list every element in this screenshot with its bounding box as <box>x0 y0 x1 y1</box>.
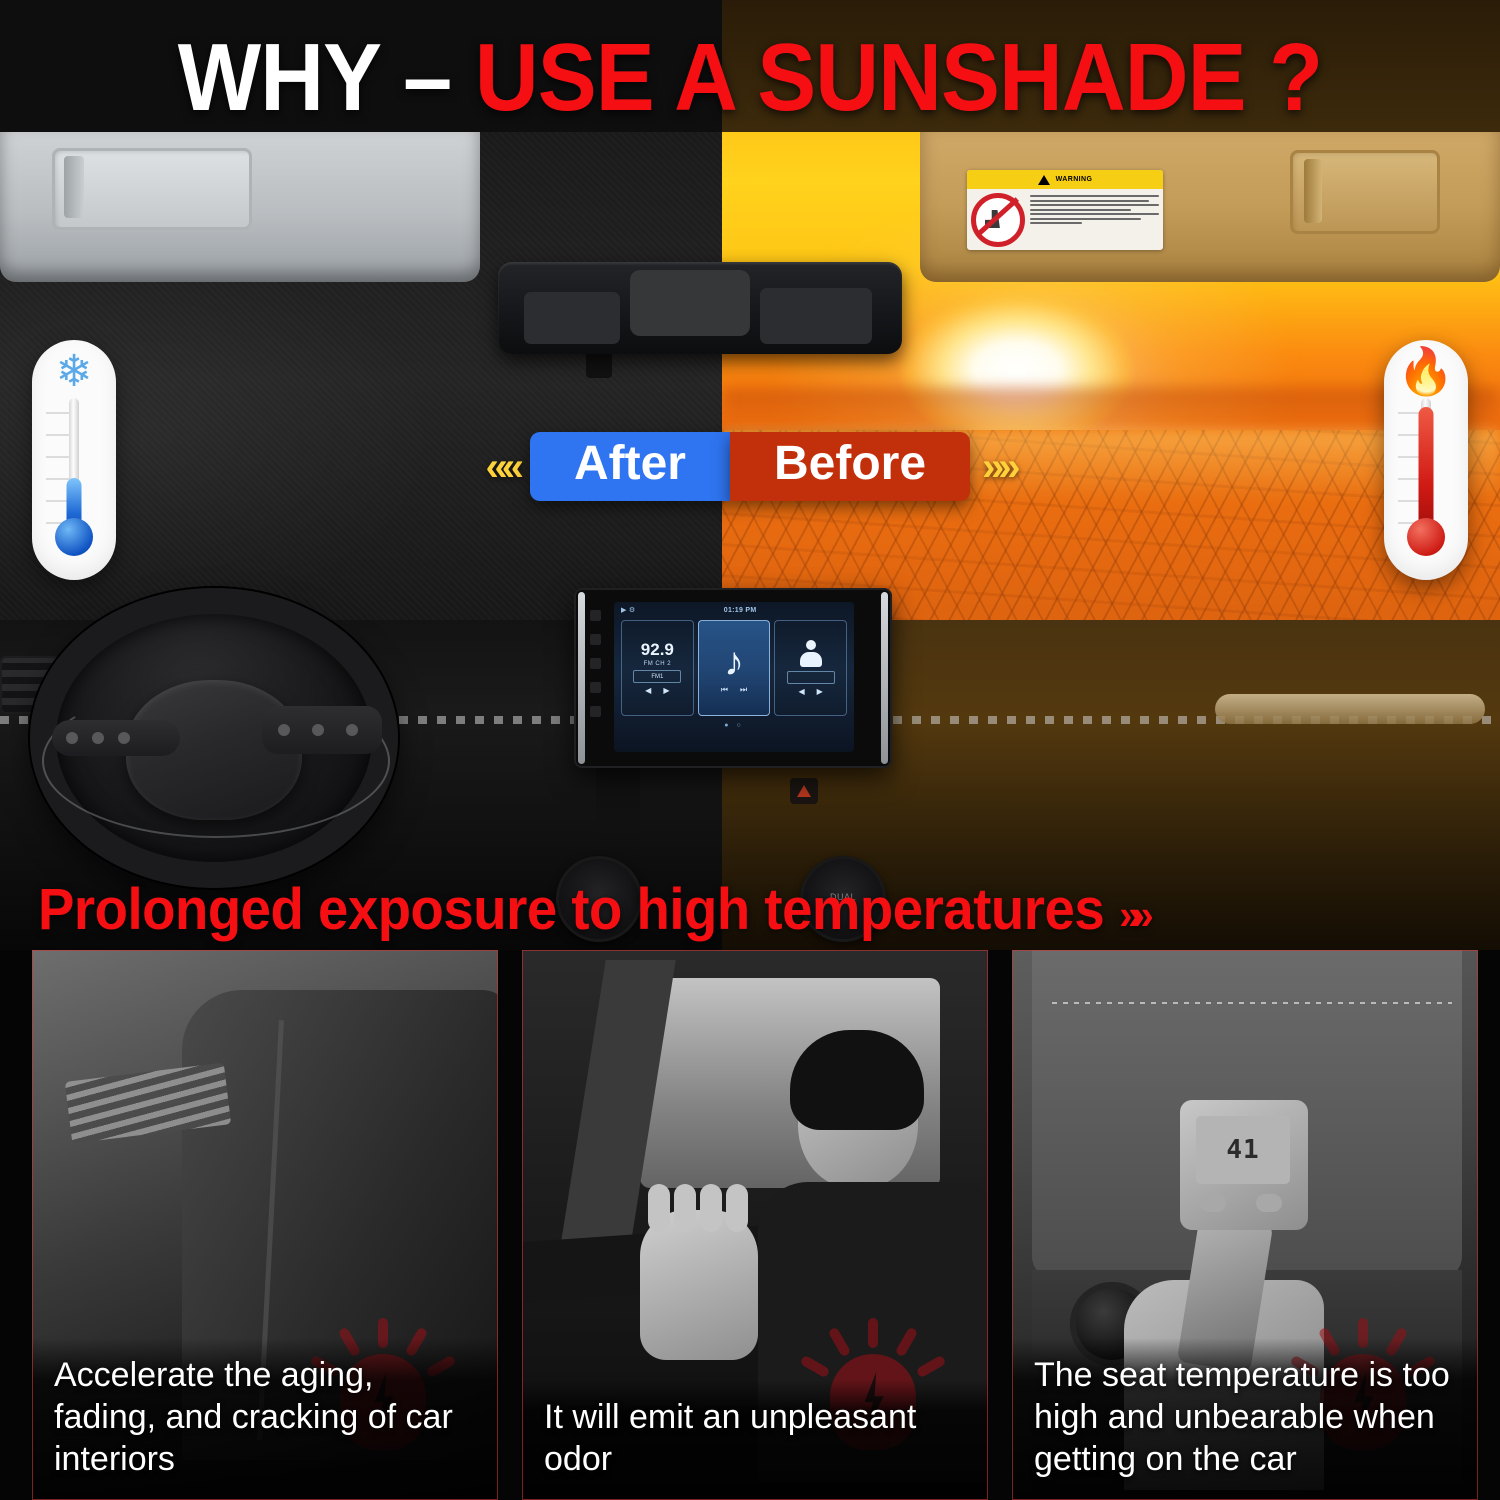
sun-visor-left <box>0 132 480 282</box>
profile-widget[interactable]: ◀ ▶ <box>774 620 847 716</box>
page-title: WHY – USE A SUNSHADE ? <box>60 30 1440 126</box>
hazard-light-button[interactable] <box>790 778 818 804</box>
warning-label-text: WARNING <box>1056 176 1093 183</box>
profile-chip[interactable] <box>787 671 835 684</box>
headline-white-part: WHY <box>178 24 403 131</box>
panel-caption: It will emit an unpleasant odor <box>522 1380 988 1500</box>
head-unit-key-menu <box>590 634 601 645</box>
panel-caption: Accelerate the aging, fading, and cracki… <box>32 1338 498 1500</box>
chevron-right-icon: »» <box>982 447 1015 487</box>
screen-clock: 01:19 PM <box>724 607 757 614</box>
mirror-reflection-headrest <box>630 270 750 336</box>
after-badge[interactable]: After <box>530 432 730 501</box>
head-unit-rail-right <box>881 592 888 764</box>
radio-band: FM CH 2 <box>644 661 672 667</box>
radio-seek-controls[interactable]: ◀ ▶ <box>645 686 669 695</box>
no-child-seat-icon <box>971 193 1025 247</box>
thermometer-cold-bulb <box>55 518 93 556</box>
steering-wheel-buttons-right[interactable] <box>262 706 382 754</box>
radio-preset-chip[interactable]: FM1 <box>633 670 681 683</box>
rear-view-mirror <box>498 262 902 354</box>
steering-wheel-buttons-left[interactable] <box>52 720 180 756</box>
profile-nav-controls[interactable]: ◀ ▶ <box>799 687 823 696</box>
radio-widget[interactable]: 92.9 FM CH 2 FM1 ◀ ▶ <box>621 620 694 716</box>
mirror-reflection-seat-left <box>524 292 620 344</box>
product-infographic: WARNING <box>0 0 1500 1500</box>
head-unit-key-volume <box>590 682 601 693</box>
person-hair-shape <box>790 1030 924 1130</box>
subheadline-text: Prolonged exposure to high temperatures <box>38 877 1104 942</box>
steering-wheel <box>30 588 398 888</box>
infotainment-head-unit[interactable]: ▶ ⚙ 01:19 PM 92.9 FM CH 2 FM1 ◀ ▶ <box>574 588 892 768</box>
warning-label-body <box>967 189 1163 250</box>
panel-caption: The seat temperature is too high and unb… <box>1012 1338 1478 1500</box>
mirror-stem <box>586 352 612 378</box>
warning-triangle-icon <box>1038 175 1050 185</box>
person-icon <box>799 640 823 668</box>
dashboard-chrome-trim <box>1215 694 1485 724</box>
panel-interior-aging: Accelerate the aging, fading, and cracki… <box>32 950 498 1500</box>
thermometer-button-right[interactable] <box>1256 1194 1282 1212</box>
media-transport-controls[interactable]: ⏮⏭ <box>721 685 747 695</box>
radio-next-icon: ▶ <box>663 686 669 695</box>
thermometer-display: 41 <box>1196 1116 1290 1184</box>
visor-mirror-left <box>52 148 252 230</box>
thermometer-button-left[interactable] <box>1200 1194 1226 1212</box>
head-unit-mount <box>596 762 640 834</box>
infrared-thermometer-icon: 41 <box>1180 1100 1308 1230</box>
chevron-left-icon: «« <box>485 447 518 487</box>
screen-status-bar: ▶ ⚙ 01:19 PM <box>614 602 854 614</box>
head-unit-side-keys[interactable] <box>590 610 601 717</box>
visor-warning-label: WARNING <box>967 170 1163 250</box>
subheadline-arrows-icon: »» <box>1119 891 1144 938</box>
head-unit-key-media <box>590 658 601 669</box>
status-right-icons <box>845 607 847 614</box>
hero-before-after-comparison: WARNING <box>0 0 1500 950</box>
head-unit-key-home <box>590 610 601 621</box>
visor-mirror-right <box>1290 150 1440 234</box>
headline-dash: – <box>403 24 475 131</box>
media-next-icon: ⏭ <box>740 685 747 695</box>
panel-unpleasant-odor: It will emit an unpleasant odor <box>522 950 988 1500</box>
screen-page-dots[interactable]: ● ○ <box>614 722 854 729</box>
profile-next-icon: ▶ <box>817 687 823 696</box>
seat-stitching <box>1052 1002 1452 1004</box>
thermometer-hot-bulb <box>1407 518 1445 556</box>
flame-icon: 🔥 <box>1397 348 1454 394</box>
sun-visor-right: WARNING <box>920 132 1500 282</box>
head-unit-key-power <box>590 706 601 717</box>
warning-label-textlines <box>1030 193 1159 247</box>
before-badge[interactable]: Before <box>730 432 970 501</box>
thermometer-reading: 41 <box>1226 1135 1259 1165</box>
music-note-icon: ♪ <box>724 642 744 682</box>
radio-prev-icon: ◀ <box>645 686 651 695</box>
screen-widget-row: 92.9 FM CH 2 FM1 ◀ ▶ ♪ ⏮⏭ <box>614 614 854 722</box>
head-unit-rail-left <box>578 592 585 764</box>
radio-frequency: 92.9 <box>641 641 674 658</box>
mirror-reflection-seat-right <box>760 288 872 344</box>
media-widget[interactable]: ♪ ⏮⏭ <box>698 620 771 716</box>
subheadline: Prolonged exposure to high temperatures»… <box>38 876 1144 943</box>
profile-prev-icon: ◀ <box>799 687 805 696</box>
panel-seat-temperature: 41 The seat temperature is too high and … <box>1012 950 1478 1500</box>
headline-red-part: USE A SUNSHADE ? <box>475 24 1322 131</box>
status-left-icons: ▶ ⚙ <box>621 606 636 614</box>
snowflake-icon: ❄ <box>56 350 93 394</box>
person-hand-shape <box>640 1210 758 1360</box>
consequence-panels: Accelerate the aging, fading, and cracki… <box>0 950 1500 1500</box>
before-after-toggle: «« After Before »» <box>0 432 1500 501</box>
infotainment-screen[interactable]: ▶ ⚙ 01:19 PM 92.9 FM CH 2 FM1 ◀ ▶ <box>614 602 854 752</box>
warning-label-header: WARNING <box>967 170 1163 189</box>
media-prev-icon: ⏮ <box>721 685 728 695</box>
